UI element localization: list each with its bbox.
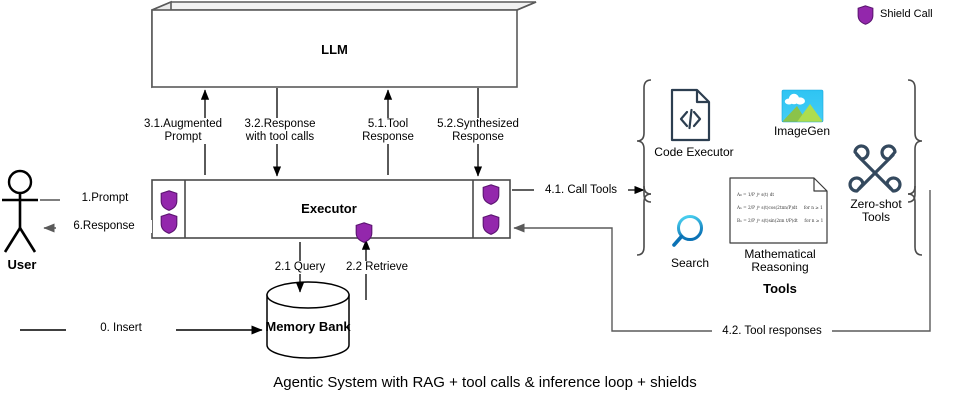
tool-label-zero-shot: Zero-shot Tools xyxy=(838,198,914,224)
math-formula-line-2: Bₙ = 2/P ∫ᵖ s(t)sin(2πn t/P)dt for n ≥ 1 xyxy=(737,218,823,223)
tool-label-math-reasoning: Mathematical Reasoning xyxy=(734,248,826,274)
edge-label-response: 6.Response xyxy=(56,220,152,233)
code-document-icon xyxy=(672,90,709,140)
math-document-icon xyxy=(730,178,827,243)
shield-icon-executor-in-bottom xyxy=(160,213,178,234)
diagram-connectors xyxy=(0,0,970,411)
edge-label-prompt: 1.Prompt xyxy=(60,192,150,205)
user-label: User xyxy=(0,257,44,272)
crossed-wrenches-icon xyxy=(850,146,900,191)
edge-label-call-tools: 4.1. Call Tools xyxy=(534,184,628,197)
tools-brace-left xyxy=(637,80,651,202)
tool-label-search: Search xyxy=(660,257,720,270)
image-gen-icon xyxy=(782,90,823,122)
edge-label-insert: 0. Insert xyxy=(66,322,176,335)
shield-icon-memory xyxy=(355,222,373,243)
llm-label: LLM xyxy=(152,42,517,57)
shield-icon-executor-out-bottom xyxy=(482,214,500,235)
executor-label: Executor xyxy=(185,201,473,216)
shield-icon-executor-in-top xyxy=(160,190,178,211)
edge-label-query: 2.1 Query xyxy=(262,261,338,274)
tool-label-code-executor: Code Executor xyxy=(648,146,740,159)
edge-label-augmented-prompt: 3.1.Augmented Prompt xyxy=(138,118,228,144)
shield-icon-executor-out-top xyxy=(482,184,500,205)
edge-label-response-tool-calls: 3.2.Response with tool calls xyxy=(232,118,328,144)
shield-icon-legend xyxy=(857,5,874,25)
magnifier-icon xyxy=(674,217,702,246)
user-stick-figure xyxy=(2,171,38,252)
edge-label-tool-responses: 4.2. Tool responses xyxy=(712,325,832,338)
tools-brace-right xyxy=(908,80,922,202)
memory-bank-label: Memory Bank xyxy=(258,319,358,334)
tools-group-label: Tools xyxy=(735,281,825,296)
legend-label: Shield Call xyxy=(880,8,960,21)
math-formula-line-1: Aₙ = 2/P ∫ᵖ s(t)cos(2tπn/P)dt for n ≥ 1 xyxy=(737,205,823,210)
edge-label-retrieve: 2.2 Retrieve xyxy=(334,261,420,274)
tool-label-imagegen: ImageGen xyxy=(766,125,838,138)
edge-label-tool-response: 5.1.Tool Response xyxy=(345,118,431,144)
diagram-caption: Agentic System with RAG + tool calls & i… xyxy=(0,374,970,391)
math-formula-line-0: A₀ = 1/P ∫ᵖ s(t) dt xyxy=(737,192,774,197)
edge-label-synthesized-response: 5.2.Synthesized Response xyxy=(430,118,526,144)
